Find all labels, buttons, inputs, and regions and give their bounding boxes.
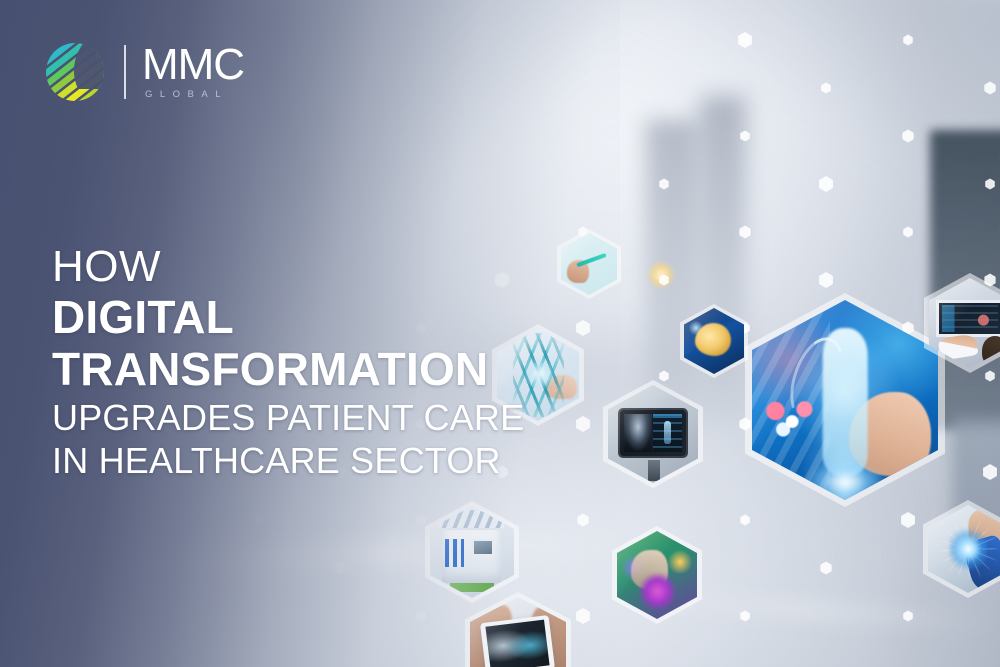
- mesh-node: [985, 371, 995, 382]
- page-title: HOW DIGITAL TRANSFORMATION UPGRADES PATI…: [52, 243, 522, 482]
- mesh-node: [903, 35, 913, 46]
- headline-line-5: IN HEALTHCARE SECTOR: [52, 439, 522, 483]
- headline-line-4: UPGRADES PATIENT CARE: [52, 396, 522, 440]
- mesh-node: [659, 275, 669, 286]
- mesh-node: [901, 512, 915, 528]
- headline-line-2: DIGITAL: [52, 292, 522, 344]
- logo-divider: [124, 45, 126, 99]
- body-hologram-figure: [823, 328, 868, 476]
- marketing-banner: MMC GLOBAL HOW DIGITAL TRANSFORMATION UP…: [0, 0, 1000, 667]
- mesh-node: [985, 179, 995, 190]
- mesh-node: [740, 611, 750, 622]
- headline-line-3: TRANSFORMATION: [52, 344, 522, 396]
- monitor-stand: [648, 460, 661, 482]
- mesh-node: [821, 83, 831, 94]
- headline-line-1: HOW: [52, 243, 522, 291]
- mesh-node: [659, 179, 669, 190]
- globe-stripes-icon: [44, 41, 106, 103]
- brain-lobe: [695, 323, 731, 356]
- neon-amber-bloom: [668, 549, 692, 575]
- mesh-node: [984, 82, 995, 95]
- mesh-node: [983, 464, 997, 480]
- mesh-node: [903, 227, 913, 238]
- desk-monitor: [936, 300, 1000, 338]
- mesh-node: [740, 515, 750, 526]
- mesh-node: [903, 611, 913, 622]
- logo-tagline: GLOBAL: [142, 89, 244, 100]
- mesh-node: [659, 371, 669, 382]
- mesh-node: [820, 562, 831, 575]
- logo[interactable]: MMC GLOBAL: [44, 36, 244, 108]
- mesh-node: [902, 130, 913, 143]
- monitor-screen: [620, 410, 687, 455]
- xray-image: [624, 414, 652, 452]
- mesh-node: [819, 272, 833, 288]
- logo-wordmark-group: MMC GLOBAL: [142, 44, 244, 100]
- scan-panel: [653, 414, 682, 452]
- logo-wordmark: MMC: [142, 44, 244, 86]
- neon-magenta-bloom: [639, 573, 676, 610]
- lightbeam-core: [949, 528, 987, 570]
- mesh-node: [738, 32, 752, 48]
- mesh-node: [740, 131, 750, 142]
- mesh-node: [819, 176, 833, 192]
- mesh-node: [739, 226, 750, 239]
